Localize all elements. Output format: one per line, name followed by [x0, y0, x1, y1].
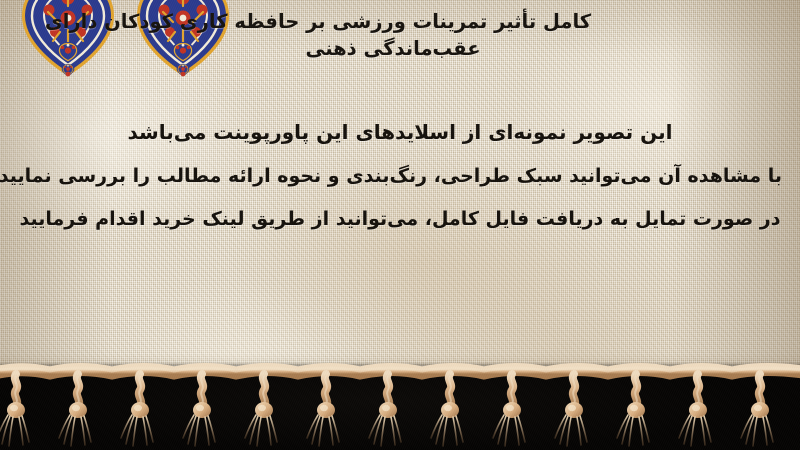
slide-title: کامل تأثیر تمرینات ورزشی بر حافظه کاری ک… [0, 8, 786, 62]
body-line-2: با مشاهده آن می‌توانید سبک طراحی، رنگ‌بن… [18, 154, 782, 198]
carpet-black-band [0, 368, 800, 450]
body-line-1: این تصویر نمونه‌ای از اسلایدهای این پاور… [18, 110, 782, 154]
slide-canvas: کامل تأثیر تمرینات ورزشی بر حافظه کاری ک… [0, 0, 800, 450]
band-edge-gradient [0, 362, 800, 376]
title-line-1: کامل تأثیر تمرینات ورزشی بر حافظه کاری ک… [0, 8, 786, 35]
title-line-2: عقب‌ماندگی ذهنی [0, 35, 786, 62]
body-line-3: در صورت تمایل به دریافت فایل کامل، می‌تو… [18, 198, 782, 241]
slide-body: این تصویر نمونه‌ای از اسلایدهای این پاور… [18, 110, 782, 241]
